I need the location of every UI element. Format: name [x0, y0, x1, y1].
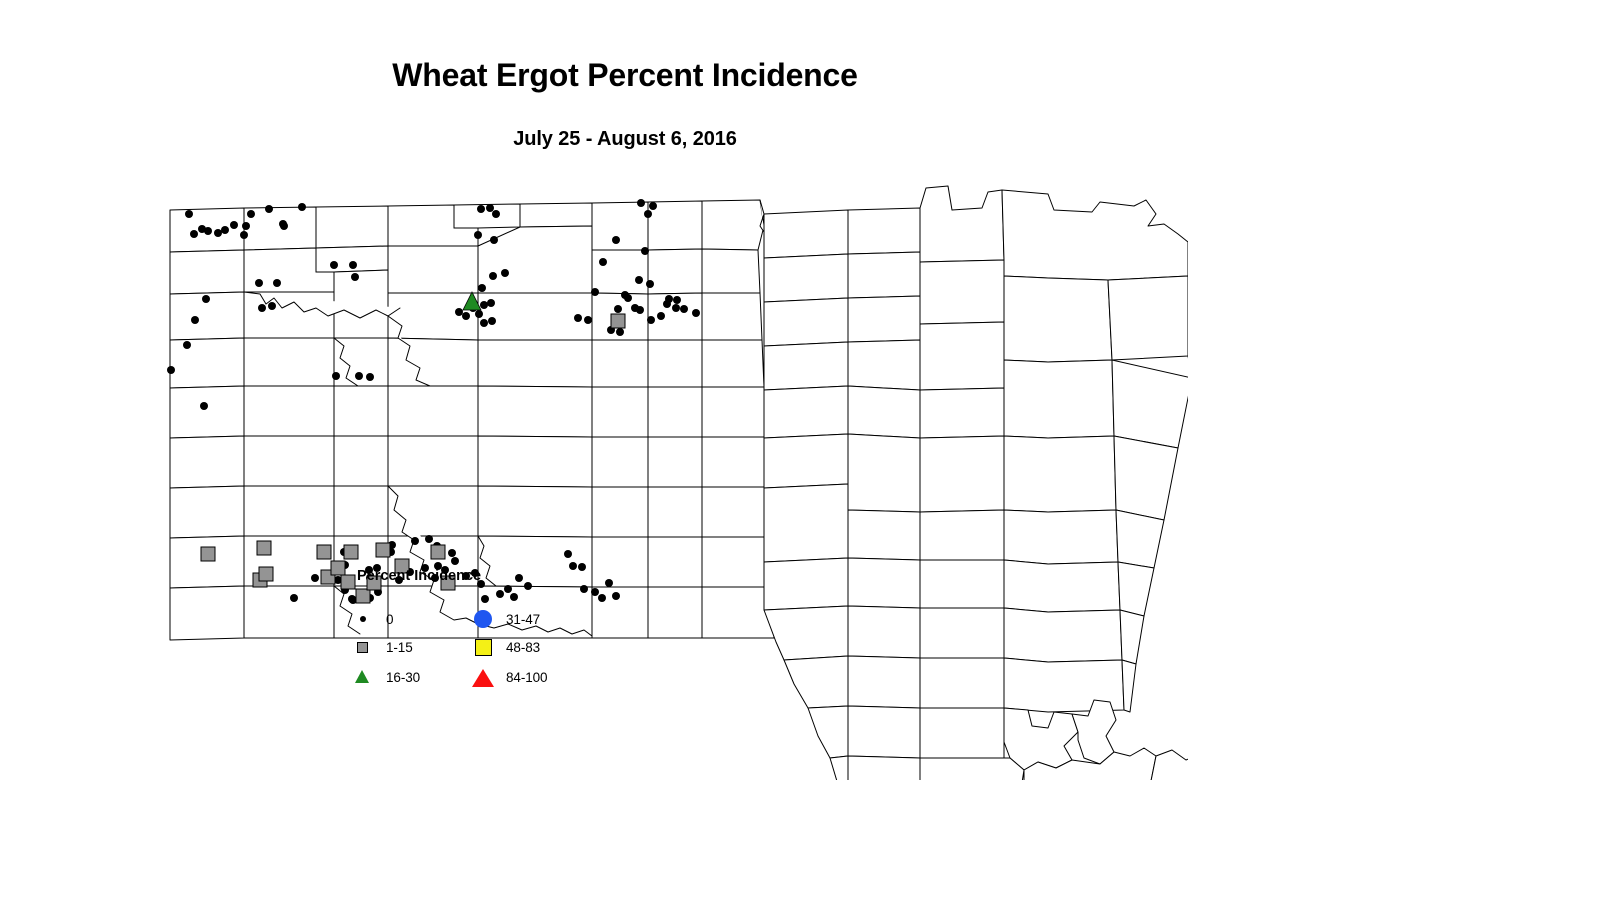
map-figure: Wheat Ergot Percent Incidence July 25 - …: [0, 0, 1612, 900]
legend: Percent Incidence 0 1-15 16-30 31-47 48-…: [352, 568, 612, 703]
legend-label-31-47: 31-47: [506, 612, 540, 627]
gray-square-icon: [352, 636, 378, 658]
county-map-svg[interactable]: [148, 180, 1188, 780]
legend-item-0[interactable]: 0: [352, 608, 393, 630]
red-triangle-icon: [472, 666, 498, 688]
legend-item-16-30[interactable]: 16-30: [352, 666, 420, 688]
yellow-square-icon: [472, 636, 498, 658]
small-black-dot-icon: [352, 608, 378, 630]
legend-label-0: 0: [386, 612, 393, 627]
page-title: Wheat Ergot Percent Incidence: [0, 58, 1250, 93]
green-triangle-icon: [352, 666, 378, 688]
map-canvas[interactable]: [148, 180, 1188, 780]
legend-item-31-47[interactable]: 31-47: [472, 608, 540, 630]
legend-label-16-30: 16-30: [386, 670, 420, 685]
legend-item-1-15[interactable]: 1-15: [352, 636, 413, 658]
legend-title: Percent Incidence: [357, 568, 481, 584]
county-boundaries: [170, 186, 1188, 780]
legend-label-1-15: 1-15: [386, 640, 413, 655]
legend-label-84-100: 84-100: [506, 670, 547, 685]
page-subtitle: July 25 - August 6, 2016: [0, 128, 1250, 151]
legend-item-84-100[interactable]: 84-100: [472, 666, 547, 688]
blue-circle-icon: [472, 608, 498, 630]
legend-label-48-83: 48-83: [506, 640, 540, 655]
legend-item-48-83[interactable]: 48-83: [472, 636, 540, 658]
